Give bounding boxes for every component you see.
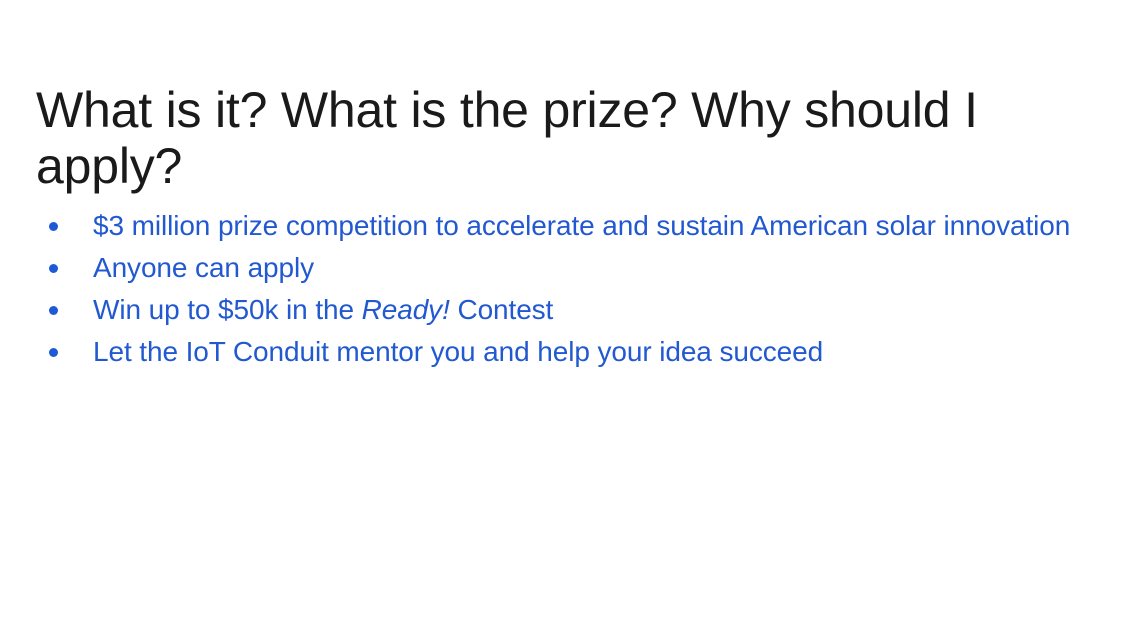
list-item: $3 million prize competition to accelera… [36, 205, 1096, 247]
list-item-label-prefix: Win up to $50k in the [93, 294, 362, 325]
presentation-slide: What is it? What is the prize? Why shoul… [0, 0, 1131, 619]
list-item: Let the IoT Conduit mentor you and help … [36, 331, 1096, 373]
list-item: Win up to $50k in the Ready! Contest [36, 289, 1096, 331]
list-item: Anyone can apply [36, 247, 1096, 289]
slide-title: What is it? What is the prize? Why shoul… [36, 82, 1036, 194]
list-item-label-suffix: Contest [450, 294, 553, 325]
bullet-dot-icon [49, 222, 58, 231]
list-item-label: Win up to $50k in the Ready! Contest [93, 289, 1096, 331]
list-item-label: Let the IoT Conduit mentor you and help … [93, 331, 1096, 373]
list-item-label: Anyone can apply [93, 247, 1096, 289]
bullet-dot-icon [49, 264, 58, 273]
list-item-label: $3 million prize competition to accelera… [93, 205, 1096, 247]
bullet-list: $3 million prize competition to accelera… [36, 205, 1096, 373]
list-item-label-emphasis: Ready! [362, 294, 450, 325]
bullet-dot-icon [49, 306, 58, 315]
bullet-dot-icon [49, 348, 58, 357]
